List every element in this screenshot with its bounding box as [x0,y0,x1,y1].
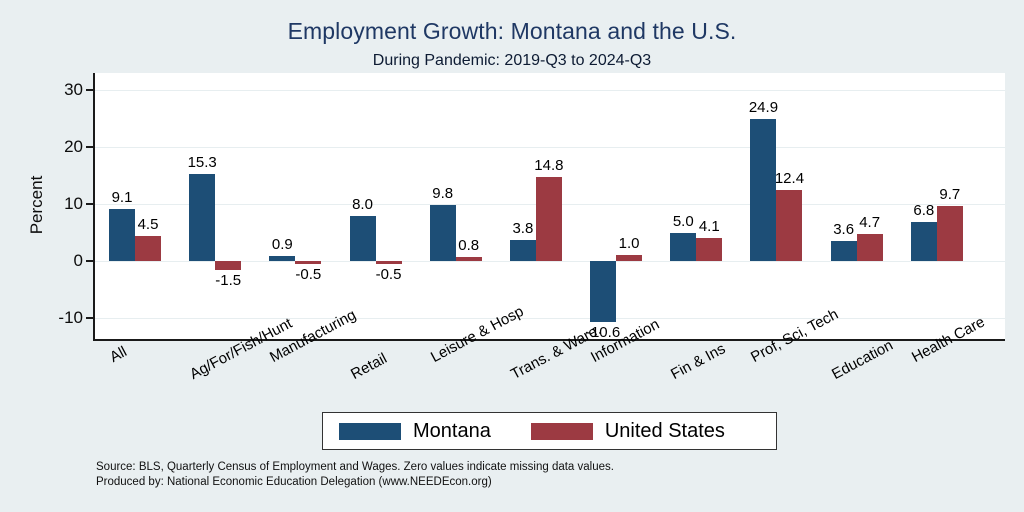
bar-group: 8.0-0.5 [350,73,402,339]
bar-value-label: 12.4 [766,170,812,187]
chart-title: Employment Growth: Montana and the U.S. [0,18,1024,45]
y-axis-tick-mark [86,203,93,205]
bar-group: 9.80.8 [430,73,482,339]
bar-value-label: -0.5 [285,266,331,283]
legend-item-montana[interactable]: Montana [339,420,491,443]
bar-value-label: 24.9 [740,99,786,116]
x-axis-label-fin-ins: Fin & Ins [668,340,728,383]
bar-value-label: -0.5 [366,266,412,283]
bar-united-states[interactable] [857,234,883,261]
plot-area: 9.14.515.3-1.50.9-0.58.0-0.59.80.83.814.… [93,73,1005,341]
bar-group: 9.14.5 [109,73,161,339]
bar-montana[interactable] [831,241,857,262]
bar-value-label: 14.8 [526,157,572,174]
bar-montana[interactable] [350,216,376,262]
bar-value-label: 9.8 [420,185,466,202]
bar-group: 3.64.7 [831,73,883,339]
bar-united-states[interactable] [456,257,482,262]
bar-value-label: 4.1 [686,218,732,235]
bar-value-label: 0.8 [446,237,492,254]
bar-united-states[interactable] [295,261,321,264]
y-axis-tick-label: 10 [25,194,83,214]
bar-united-states[interactable] [135,236,161,262]
bar-united-states[interactable] [215,261,241,270]
bar-value-label: 4.7 [847,214,893,231]
bar-montana[interactable] [670,233,696,262]
bar-montana[interactable] [750,119,776,261]
bar-value-label: 8.0 [340,196,386,213]
y-axis-tick-mark [86,146,93,148]
chart-canvas: Employment Growth: Montana and the U.S. … [0,0,1024,512]
legend-label: United States [605,420,725,443]
bar-montana[interactable] [590,261,616,321]
y-axis-tick-label: 0 [25,251,83,271]
legend-item-united-states[interactable]: United States [531,420,725,443]
chart-footer: Source: BLS, Quarterly Census of Employm… [96,460,614,490]
legend-label: Montana [413,420,491,443]
bar-united-states[interactable] [536,177,562,261]
y-axis-tick-mark [86,317,93,319]
bar-value-label: 15.3 [179,154,225,171]
bar-value-label: 1.0 [606,235,652,252]
legend-swatch [531,423,593,440]
bar-montana[interactable] [510,240,536,262]
bar-group: 24.912.4 [750,73,802,339]
bar-group: 5.04.1 [670,73,722,339]
bar-group: -10.61.0 [590,73,642,339]
bar-united-states[interactable] [696,238,722,261]
y-axis-tick-label: 30 [25,80,83,100]
bar-montana[interactable] [189,174,215,261]
bar-value-label: 4.5 [125,216,171,233]
bar-united-states[interactable] [616,255,642,261]
x-axis-label-all: All [107,343,130,366]
x-axis-label-retail: Retail [348,350,390,383]
y-axis-tick-mark [86,89,93,91]
chart-subtitle: During Pandemic: 2019-Q3 to 2024-Q3 [0,52,1024,70]
bar-montana[interactable] [911,222,937,261]
bar-value-label: 9.1 [99,189,145,206]
footer-producer-line: Produced by: National Economic Education… [96,475,614,490]
bar-group: 0.9-0.5 [269,73,321,339]
bar-group: 3.814.8 [510,73,562,339]
bar-montana[interactable] [269,256,295,261]
bar-united-states[interactable] [376,261,402,264]
x-axis-label-education: Education [829,337,896,383]
bar-united-states[interactable] [776,190,802,261]
y-axis-tick-label: -10 [25,308,83,328]
bar-value-label: -1.5 [205,272,251,289]
y-axis-tick-label: 20 [25,137,83,157]
bar-value-label: 0.9 [259,236,305,253]
bar-group: 15.3-1.5 [189,73,241,339]
legend-swatch [339,423,401,440]
bar-group: 6.89.7 [911,73,963,339]
y-axis-tick-mark [86,260,93,262]
chart-legend: MontanaUnited States [322,412,777,450]
bar-united-states[interactable] [937,206,963,261]
bar-value-label: 9.7 [927,186,973,203]
footer-source-line: Source: BLS, Quarterly Census of Employm… [96,460,614,475]
